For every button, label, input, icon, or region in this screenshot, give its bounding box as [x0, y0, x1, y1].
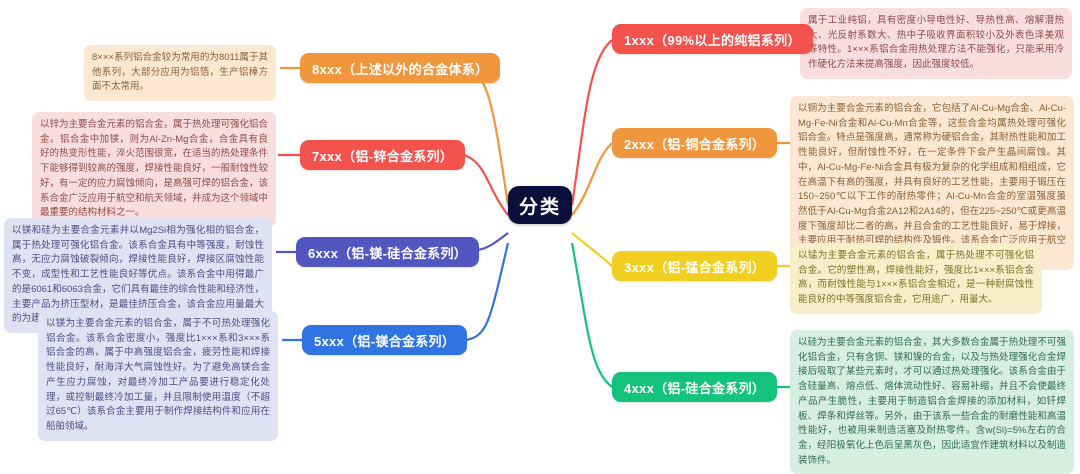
- detail-text-7xxx: 以锌为主要合金元素的铝合金，属于热处理可强化铝合金。铝合金中加镁，则为Al-Zn…: [40, 119, 268, 218]
- branch-node-5xxx[interactable]: 5xxx（铝-镁合金系列）: [302, 325, 467, 355]
- detail-card-4xxx: 以硅为主要合金元素的铝合金，其大多数合金属于热处理不可强化铝合金，只有含铜、镁和…: [790, 330, 1074, 474]
- detail-card-8xxx: 8×××系列铝合金较为常用的为8011属于其他系列，大部分应用为铝箔，生产铝棒方…: [84, 45, 276, 101]
- detail-text-6xxx: 以镁和硅为主要合金元素并以Mg2Si相为强化相的铝合金，属于热处理可强化铝合金。…: [12, 225, 264, 324]
- root-label: 分类: [519, 192, 561, 219]
- detail-text-5xxx: 以镁为主要合金元素的铝合金，属于不可热处理强化铝合金。该系合金密度小，强度比1×…: [46, 318, 270, 432]
- branch-node-6xxx[interactable]: 6xxx（铝-镁-硅合金系列）: [296, 237, 479, 267]
- branch-node-2xxx[interactable]: 2xxx（铝-铜合金系列）: [612, 128, 777, 158]
- branch-label-8xxx: 8xxx（上述以外的合金体系）: [312, 59, 488, 78]
- branch-label-6xxx: 6xxx（铝-镁-硅合金系列）: [308, 243, 467, 262]
- detail-card-7xxx: 以锌为主要合金元素的铝合金，属于热处理可强化铝合金。铝合金中加镁，则为Al-Zn…: [32, 112, 276, 227]
- branch-node-3xxx[interactable]: 3xxx（铝-锰合金系列）: [612, 251, 777, 281]
- branch-label-3xxx: 3xxx（铝-锰合金系列）: [624, 257, 765, 276]
- branch-label-7xxx: 7xxx（铝-锌合金系列）: [312, 146, 453, 165]
- branch-node-4xxx[interactable]: 4xxx（铝-硅合金系列）: [612, 372, 777, 402]
- detail-card-1xxx: 属于工业纯铝，具有密度小导电性好、导热性高、熔解潜热大、光反射系数大、热中子吸收…: [800, 8, 1072, 79]
- root-node[interactable]: 分类: [508, 186, 572, 224]
- branch-node-7xxx[interactable]: 7xxx（铝-锌合金系列）: [300, 140, 465, 170]
- detail-text-2xxx: 以铜为主要合金元素的铝合金，它包括了Al-Cu-Mg合金、Al-Cu-Mg-Fe…: [798, 103, 1066, 261]
- detail-card-3xxx: 以锰为主要合金元素的铝合金，属于热处理不可强化铝合金。它的塑性高，焊接性能好，强…: [790, 243, 1042, 314]
- detail-card-5xxx: 以镁为主要合金元素的铝合金，属于不可热处理强化铝合金。该系合金密度小，强度比1×…: [38, 311, 278, 441]
- detail-text-1xxx: 属于工业纯铝，具有密度小导电性好、导热性高、熔解潜热大、光反射系数大、热中子吸收…: [808, 15, 1064, 70]
- branch-node-1xxx[interactable]: 1xxx（99%以上的纯铝系列）: [612, 24, 813, 54]
- branch-label-1xxx: 1xxx（99%以上的纯铝系列）: [624, 30, 801, 49]
- detail-text-8xxx: 8×××系列铝合金较为常用的为8011属于其他系列，大部分应用为铝箔，生产铝棒方…: [92, 52, 268, 92]
- branch-label-2xxx: 2xxx（铝-铜合金系列）: [624, 134, 765, 153]
- branch-label-4xxx: 4xxx（铝-硅合金系列）: [624, 378, 765, 397]
- branch-label-5xxx: 5xxx（铝-镁合金系列）: [314, 331, 455, 350]
- detail-text-3xxx: 以锰为主要合金元素的铝合金，属于热处理不可强化铝合金。它的塑性高，焊接性能好，强…: [798, 250, 1034, 305]
- branch-node-8xxx[interactable]: 8xxx（上述以外的合金体系）: [300, 53, 500, 83]
- mindmap-canvas: 分类 1xxx（99%以上的纯铝系列） 属于工业纯铝，具有密度小导电性好、导热性…: [0, 0, 1080, 451]
- detail-text-4xxx: 以硅为主要合金元素的铝合金，其大多数合金属于热处理不可强化铝合金，只有含铜、镁和…: [798, 337, 1066, 466]
